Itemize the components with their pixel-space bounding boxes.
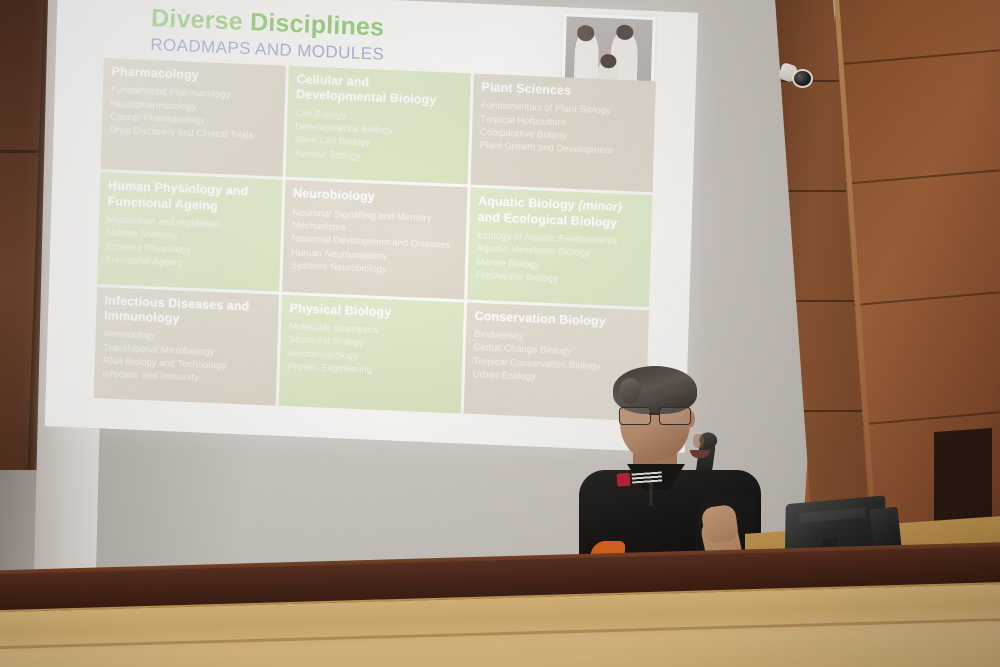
discipline-grid: Pharmacology Fundamental Pharmacology Ne… — [94, 58, 656, 421]
cell-module-list: Fundamental Pharmacology Neuropharmacolo… — [110, 83, 278, 143]
lens-left — [619, 407, 651, 425]
wall-niche — [934, 428, 992, 522]
discipline-cell-neurobiology: Neurobiology Neuronal Signalling and Mem… — [282, 180, 467, 299]
cell-module-list: Molecular Biophysics Structural Biology … — [288, 319, 456, 379]
discipline-cell-human-physiology: Human Physiology and Functional Ageing M… — [97, 172, 282, 291]
panel-seam — [788, 190, 846, 192]
camera-lens — [792, 69, 813, 88]
cell-heading: Infectious Diseases and Immunology — [104, 293, 271, 330]
slide-title-strong: Diverse — [151, 4, 244, 36]
hand — [701, 504, 740, 544]
cell-heading: Cellular and Developmental Biology — [296, 72, 463, 109]
nose — [693, 434, 704, 448]
shirt-logo — [616, 468, 663, 489]
discipline-cell-plant-sciences: Plant Sciences Fundamentals of Plant Bio… — [471, 74, 656, 193]
discipline-cell-aquatic-ecological-biology: Aquatic Biology (minor) and Ecological B… — [467, 188, 652, 307]
lens-right — [659, 407, 691, 425]
presentation-slide: Diverse Disciplines ROADMAPS AND MODULES… — [90, 2, 662, 426]
auditorium-photo: Diverse Disciplines ROADMAPS AND MODULES… — [0, 0, 1000, 667]
discipline-cell-infectious-diseases-immunology: Infectious Diseases and Immunology Immun… — [94, 287, 279, 406]
logo-mark — [617, 473, 631, 487]
cell-module-list: Fundamentals of Plant Biology Tropical H… — [480, 98, 648, 158]
discipline-cell-physical-biology: Physical Biology Molecular Biophysics St… — [279, 294, 464, 413]
eyeglasses-icon — [619, 407, 695, 423]
panel-seam — [796, 300, 854, 302]
slide-title-rest: Disciplines — [242, 8, 384, 42]
cell-module-list: Metabolism and regulation Human Anatomy … — [106, 212, 274, 272]
glasses-bridge — [649, 413, 659, 415]
cell-module-list: Neuronal Signalling and Memory Mechanism… — [291, 205, 459, 279]
cell-heading-minor: (minor) — [578, 198, 622, 214]
panel-seam — [804, 410, 862, 412]
discipline-cell-pharmacology: Pharmacology Fundamental Pharmacology Ne… — [101, 58, 286, 177]
cell-heading: Aquatic Biology (minor) and Ecological B… — [477, 194, 644, 231]
logo-text — [632, 471, 663, 483]
discipline-cell-cellular-developmental-biology: Cellular and Developmental Biology Cell … — [286, 66, 471, 185]
security-camera-icon — [780, 62, 810, 86]
cell-heading: Human Physiology and Functional Ageing — [107, 179, 274, 216]
cell-module-list: Ecology of Aquatic Environments Aquatic … — [476, 228, 644, 288]
cell-module-list: Immunology Translational Microbiology RN… — [102, 327, 270, 387]
cell-module-list: Cell Biology Developmental Biology Stem … — [294, 106, 462, 166]
